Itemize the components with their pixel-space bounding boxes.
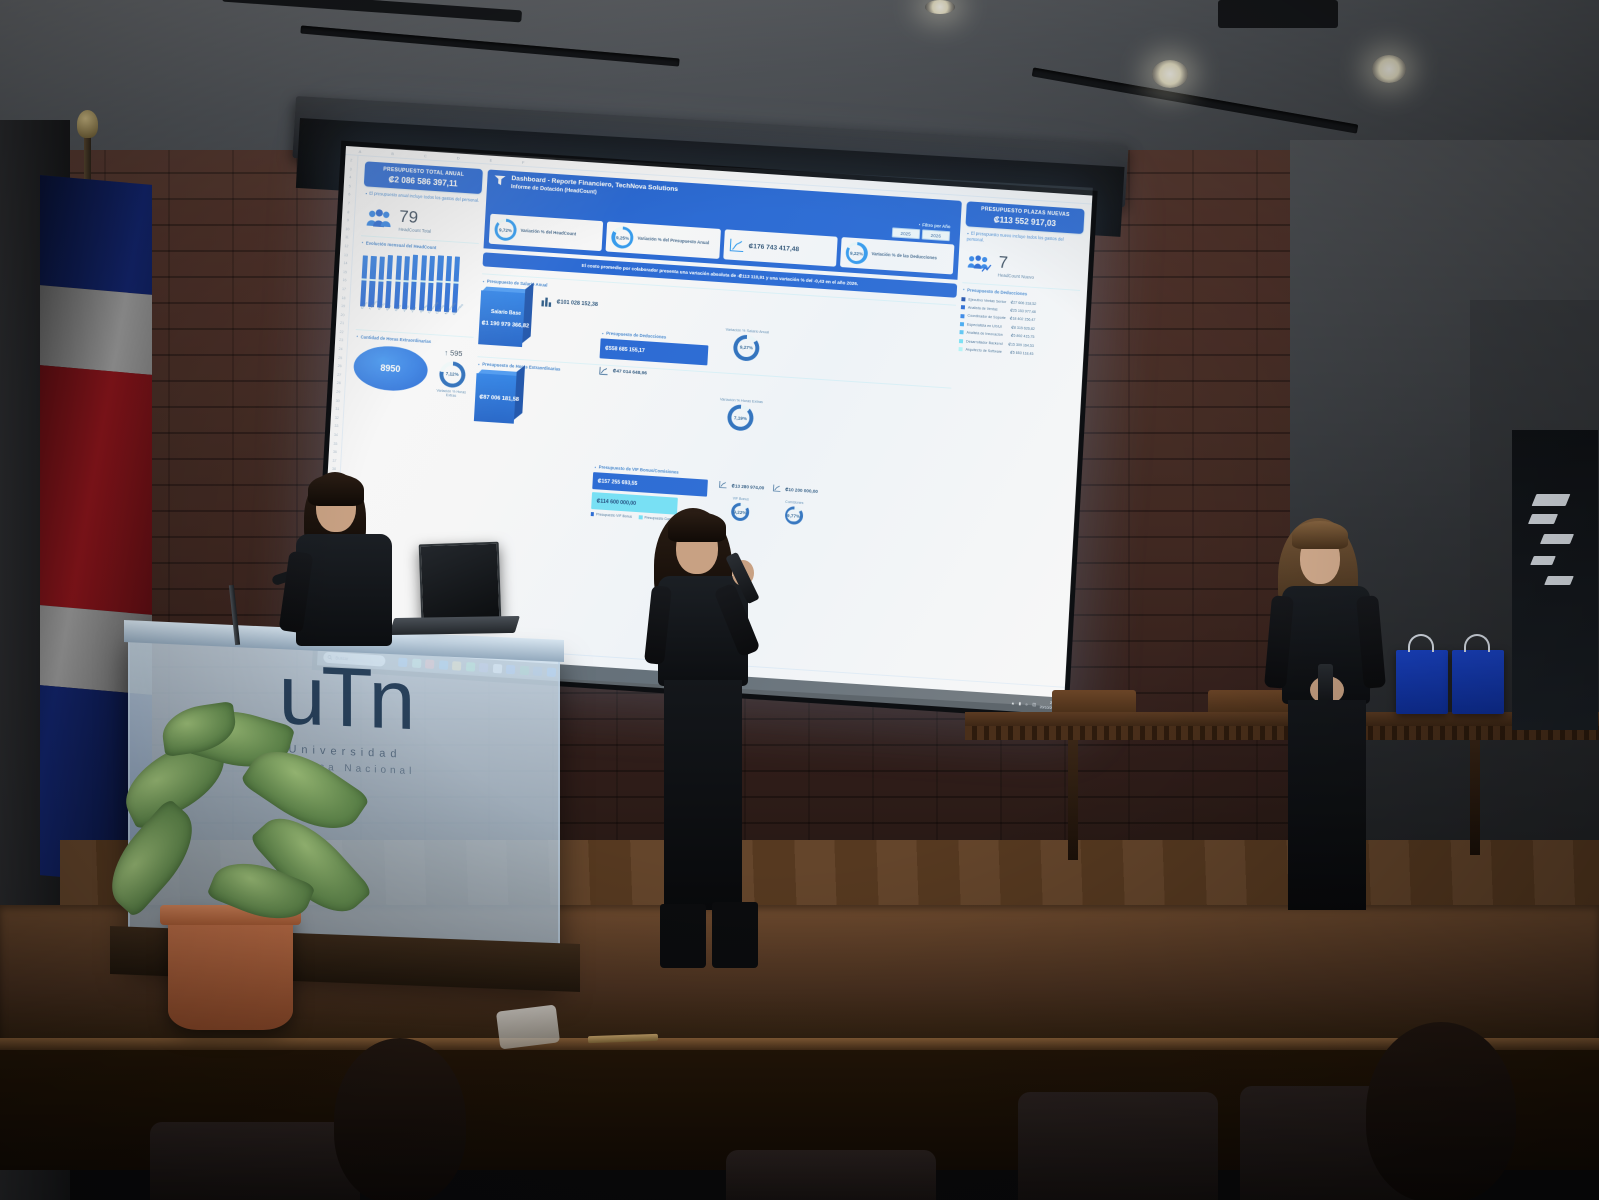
row-number: 19 — [341, 302, 345, 311]
row-number: 27 — [337, 371, 341, 380]
bar-Enero[interactable] — [360, 256, 368, 306]
salary-variation-donut: 9,27% — [733, 334, 760, 362]
presenter-right-legs — [1288, 700, 1366, 910]
row-number: 6 — [348, 191, 350, 200]
overtime-delta: ↑ 595 — [434, 347, 473, 359]
kpi-label-1: Variación % del Presupuesto Anual — [637, 236, 709, 246]
bar-Abril[interactable] — [385, 255, 393, 308]
bar-Mayo[interactable] — [394, 256, 402, 309]
col-e: E — [489, 157, 492, 162]
role-amount: ₡5 653 118,45 — [1008, 348, 1034, 358]
overtime-variation-value: 7,12% — [439, 360, 466, 388]
row-number: 17 — [342, 285, 346, 294]
line-chart-icon — [599, 366, 609, 376]
deductions-role-legend: Ejecutivo Ventas SeniorAnalista de Venta… — [958, 295, 1007, 357]
salary-variation-value: 9,27% — [733, 334, 760, 362]
new-positions-budget-card: PRESUPUESTO PLAZAS NUEVAS ₡113 552 917,0… — [966, 201, 1085, 233]
line-chart-icon — [772, 484, 781, 493]
budget-variation-donut: 9,25% — [611, 226, 634, 249]
row-number: 14 — [343, 259, 347, 268]
overtime-variation-donut: 7,12% — [439, 360, 466, 388]
new-positions-note: El presupuesto nuevo incluye todos los g… — [965, 230, 1083, 250]
row-number: 21 — [340, 319, 344, 328]
vif-bonus-donut: 9,22% — [731, 502, 750, 521]
kpi-value-0: 9,72% — [494, 218, 517, 241]
headcount-variation-donut: 9,72% — [494, 218, 517, 241]
downlight-1 — [1152, 60, 1188, 88]
row-number: 3 — [349, 165, 351, 174]
row-number: 31 — [335, 405, 339, 414]
bar-Julio[interactable] — [410, 255, 418, 310]
row-number: 34 — [334, 431, 338, 440]
dark-banner — [1512, 430, 1598, 730]
company-logo-icon — [493, 174, 507, 188]
role-legend-item: Arquitecto de Software — [958, 345, 1004, 356]
row-number: 9 — [347, 216, 349, 225]
deductions-role-amounts: ₡27 606 318,52₡25 153 977,48₡18 402 156,… — [1008, 298, 1037, 358]
bar-label: Abril — [385, 305, 391, 312]
bar-label: Diciembre — [452, 309, 458, 316]
audience-head-2 — [1366, 1022, 1516, 1200]
vif-commission-donut-caption: Comisiones — [771, 499, 817, 506]
row-number: 18 — [341, 294, 345, 303]
row-number: 29 — [336, 388, 340, 397]
row-number: 33 — [334, 422, 338, 431]
kpi-label-0: Variación % del HeadCount — [520, 228, 576, 237]
row-number: 22 — [339, 328, 343, 337]
legend-swatch-icon — [959, 339, 963, 343]
row-number: 15 — [343, 268, 347, 277]
presenter-left-torso — [296, 534, 392, 646]
row-number: 25 — [338, 354, 342, 363]
bar-label: Julio — [410, 306, 416, 313]
auditorium-scene: A B C D E F 2345678910111213141516171819… — [0, 0, 1599, 1200]
presenter-left-hair-front — [308, 474, 364, 506]
row-number: 4 — [349, 173, 351, 182]
kpi-headcount-variation[interactable]: 9,72% Variación % del HeadCount — [489, 214, 604, 251]
overtime-box-donut-value: 7,19% — [727, 404, 754, 432]
col-b: B — [391, 151, 394, 156]
salary-stat-value: ₡101 028 152,38 — [556, 299, 598, 308]
bar-Agosto[interactable] — [419, 255, 427, 310]
headcount-new-value: 7 — [998, 253, 1035, 272]
bar-chart-icon — [541, 296, 553, 307]
row-number: 12 — [344, 242, 348, 251]
overtime-variation-caption: Variación % Horas Extras — [432, 388, 471, 399]
laptop-screen — [419, 542, 502, 623]
laptop-base — [389, 616, 520, 635]
headcount-total-caption: HeadCount Total — [398, 226, 431, 233]
row-number: 28 — [336, 379, 340, 388]
overtime-box-donut: 7,19% — [727, 404, 754, 432]
presenter-center-boot-right — [712, 902, 758, 968]
ceiling-vent-2 — [1218, 0, 1338, 28]
year-option-2026[interactable]: 2026 — [921, 229, 950, 241]
arrow-up-icon: ↑ — [444, 348, 448, 357]
overtime-box-value: ₡87 006 181,58 — [479, 394, 519, 403]
kpi-label-3: Variación % de las Deducciones — [871, 251, 937, 261]
kpi-value-2: ₡176 743 417,48 — [748, 242, 799, 252]
vif-commission-stat: ₡10 200 000,00 — [772, 484, 818, 495]
people-growth-icon — [967, 254, 992, 274]
presenter-center-hair-front — [668, 512, 726, 542]
col-c: C — [424, 153, 427, 158]
deductions-bar-area: Presupuesto de Deducciones₡558 685 155,1… — [599, 330, 719, 383]
presenter-right-hair-front — [1292, 521, 1348, 549]
row-number: 13 — [344, 251, 348, 260]
row-number: 16 — [342, 276, 346, 285]
kpi-budget-variation[interactable]: 9,25% Variación % del Presupuesto Anual — [606, 221, 721, 258]
battery-icon[interactable]: ◫ — [1032, 702, 1036, 707]
row-number: 23 — [339, 336, 343, 345]
network-icon[interactable]: ▮ — [1019, 701, 1021, 706]
overtime-total-bubble: 8950 — [352, 344, 428, 393]
col-f: F — [522, 159, 525, 164]
right-column: PRESUPUESTO PLAZAS NUEVAS ₡113 552 917,0… — [940, 201, 1084, 686]
row-number: 26 — [337, 362, 341, 371]
headcount-total-row: 79 HeadCount Total — [361, 205, 480, 237]
volume-icon[interactable]: ☼ — [1025, 702, 1029, 706]
legend-swatch-icon — [959, 331, 963, 335]
row-number: 7 — [348, 199, 350, 208]
year-option-2025[interactable]: 2025 — [891, 227, 920, 239]
kpi-value-1: 9,25% — [611, 226, 634, 249]
legend-swatch-icon — [961, 305, 965, 309]
salary-base-3d-box: Salario Base ₡1 190 979 366,82 — [478, 286, 533, 351]
row-number: 8 — [347, 208, 349, 217]
snack-bag — [496, 1004, 560, 1049]
deductions-total-bar[interactable]: ₡558 685 155,17 — [600, 338, 709, 365]
headcount-new-caption: HeadCount Nuevo — [998, 272, 1034, 279]
kpi-deductions-variation[interactable]: 9,22% Variación % de las Deducciones — [840, 237, 955, 274]
legend-swatch-icon — [960, 322, 964, 326]
people-group-icon — [366, 208, 393, 228]
plant-pot — [168, 912, 293, 1030]
vif-commission-donut: 9,77% — [784, 506, 803, 525]
audience-seat-1 — [150, 1122, 360, 1200]
legend-swatch-icon — [961, 297, 965, 301]
chevron-up-icon[interactable]: ▲ — [1011, 701, 1015, 705]
headcount-new-row: 7 HeadCount Nuevo — [963, 251, 1082, 283]
col-d: D — [457, 155, 460, 160]
bar-label: Febrero — [368, 304, 374, 311]
vif-bonus-stat: ₡13 280 974,00 — [718, 480, 764, 491]
line-chart-icon — [718, 480, 727, 489]
row-number: 30 — [336, 396, 340, 405]
deductions-stat-value: ₡47 014 648,96 — [613, 369, 647, 376]
head-table-leg-1 — [1068, 740, 1078, 860]
gift-bag-1 — [1396, 650, 1448, 714]
gift-bag-2 — [1452, 650, 1504, 714]
legend-swatch-icon — [960, 314, 964, 318]
vif-bonus-donut-value: 9,22% — [731, 502, 750, 521]
row-number: 37 — [332, 457, 336, 466]
vif-commission-donut-value: 9,77% — [784, 506, 803, 525]
head-table-leg-2 — [1470, 740, 1480, 855]
row-number: 10 — [345, 225, 349, 234]
bar-Junio[interactable] — [402, 256, 410, 309]
presenter-center-boot-left — [660, 904, 706, 968]
row-number: 20 — [340, 311, 344, 320]
headcount-total-value: 79 — [399, 207, 433, 226]
line-chart-icon — [728, 237, 745, 253]
head-table-skirt — [965, 726, 1599, 740]
legend-swatch-icon — [958, 347, 962, 351]
row-number: 24 — [338, 345, 342, 354]
presenter-center-legs — [664, 680, 742, 910]
salary-base-label: Salario Base — [491, 309, 521, 317]
row-number: 32 — [335, 414, 339, 423]
kpi-absolute-variation[interactable]: ₡176 743 417,48 — [723, 229, 838, 266]
col-a: A — [359, 148, 362, 153]
audience-head-1 — [334, 1038, 466, 1200]
audience-seat-3 — [1018, 1092, 1218, 1200]
headcount-chart-labels: EneroFebreroMarzoAbrilMayoJunioJulioAgos… — [357, 307, 475, 319]
total-budget-card: PRESUPUESTO TOTAL ANUAL ₡2 086 586 397,1… — [364, 161, 483, 193]
audience-seat-2 — [726, 1150, 936, 1200]
bar-Marzo[interactable] — [377, 257, 385, 307]
vif-bonus-donut-caption: VIF Bonus — [718, 495, 764, 502]
vif-commission-bar[interactable]: ₡114 600 000,00 — [591, 492, 678, 515]
role-name: Arquitecto de Software — [965, 346, 1002, 357]
salary-base-value: ₡1 190 979 366,82 — [481, 320, 529, 329]
flag-finial — [77, 110, 98, 138]
row-number: 35 — [333, 439, 337, 448]
row-number: 36 — [333, 448, 337, 457]
deductions-variation-donut: 9,22% — [845, 241, 868, 264]
kpi-value-3: 9,22% — [845, 241, 868, 264]
overtime-total-value: 8950 — [380, 363, 401, 374]
overtime-3d-box: ₡87 006 181,58 — [474, 369, 525, 428]
downlight-3 — [925, 0, 955, 14]
downlight-2 — [1372, 55, 1406, 83]
row-number: 2 — [350, 156, 352, 165]
row-number: 11 — [345, 233, 349, 242]
bar-label: Octubre — [435, 308, 441, 315]
row-number: 5 — [349, 182, 351, 191]
